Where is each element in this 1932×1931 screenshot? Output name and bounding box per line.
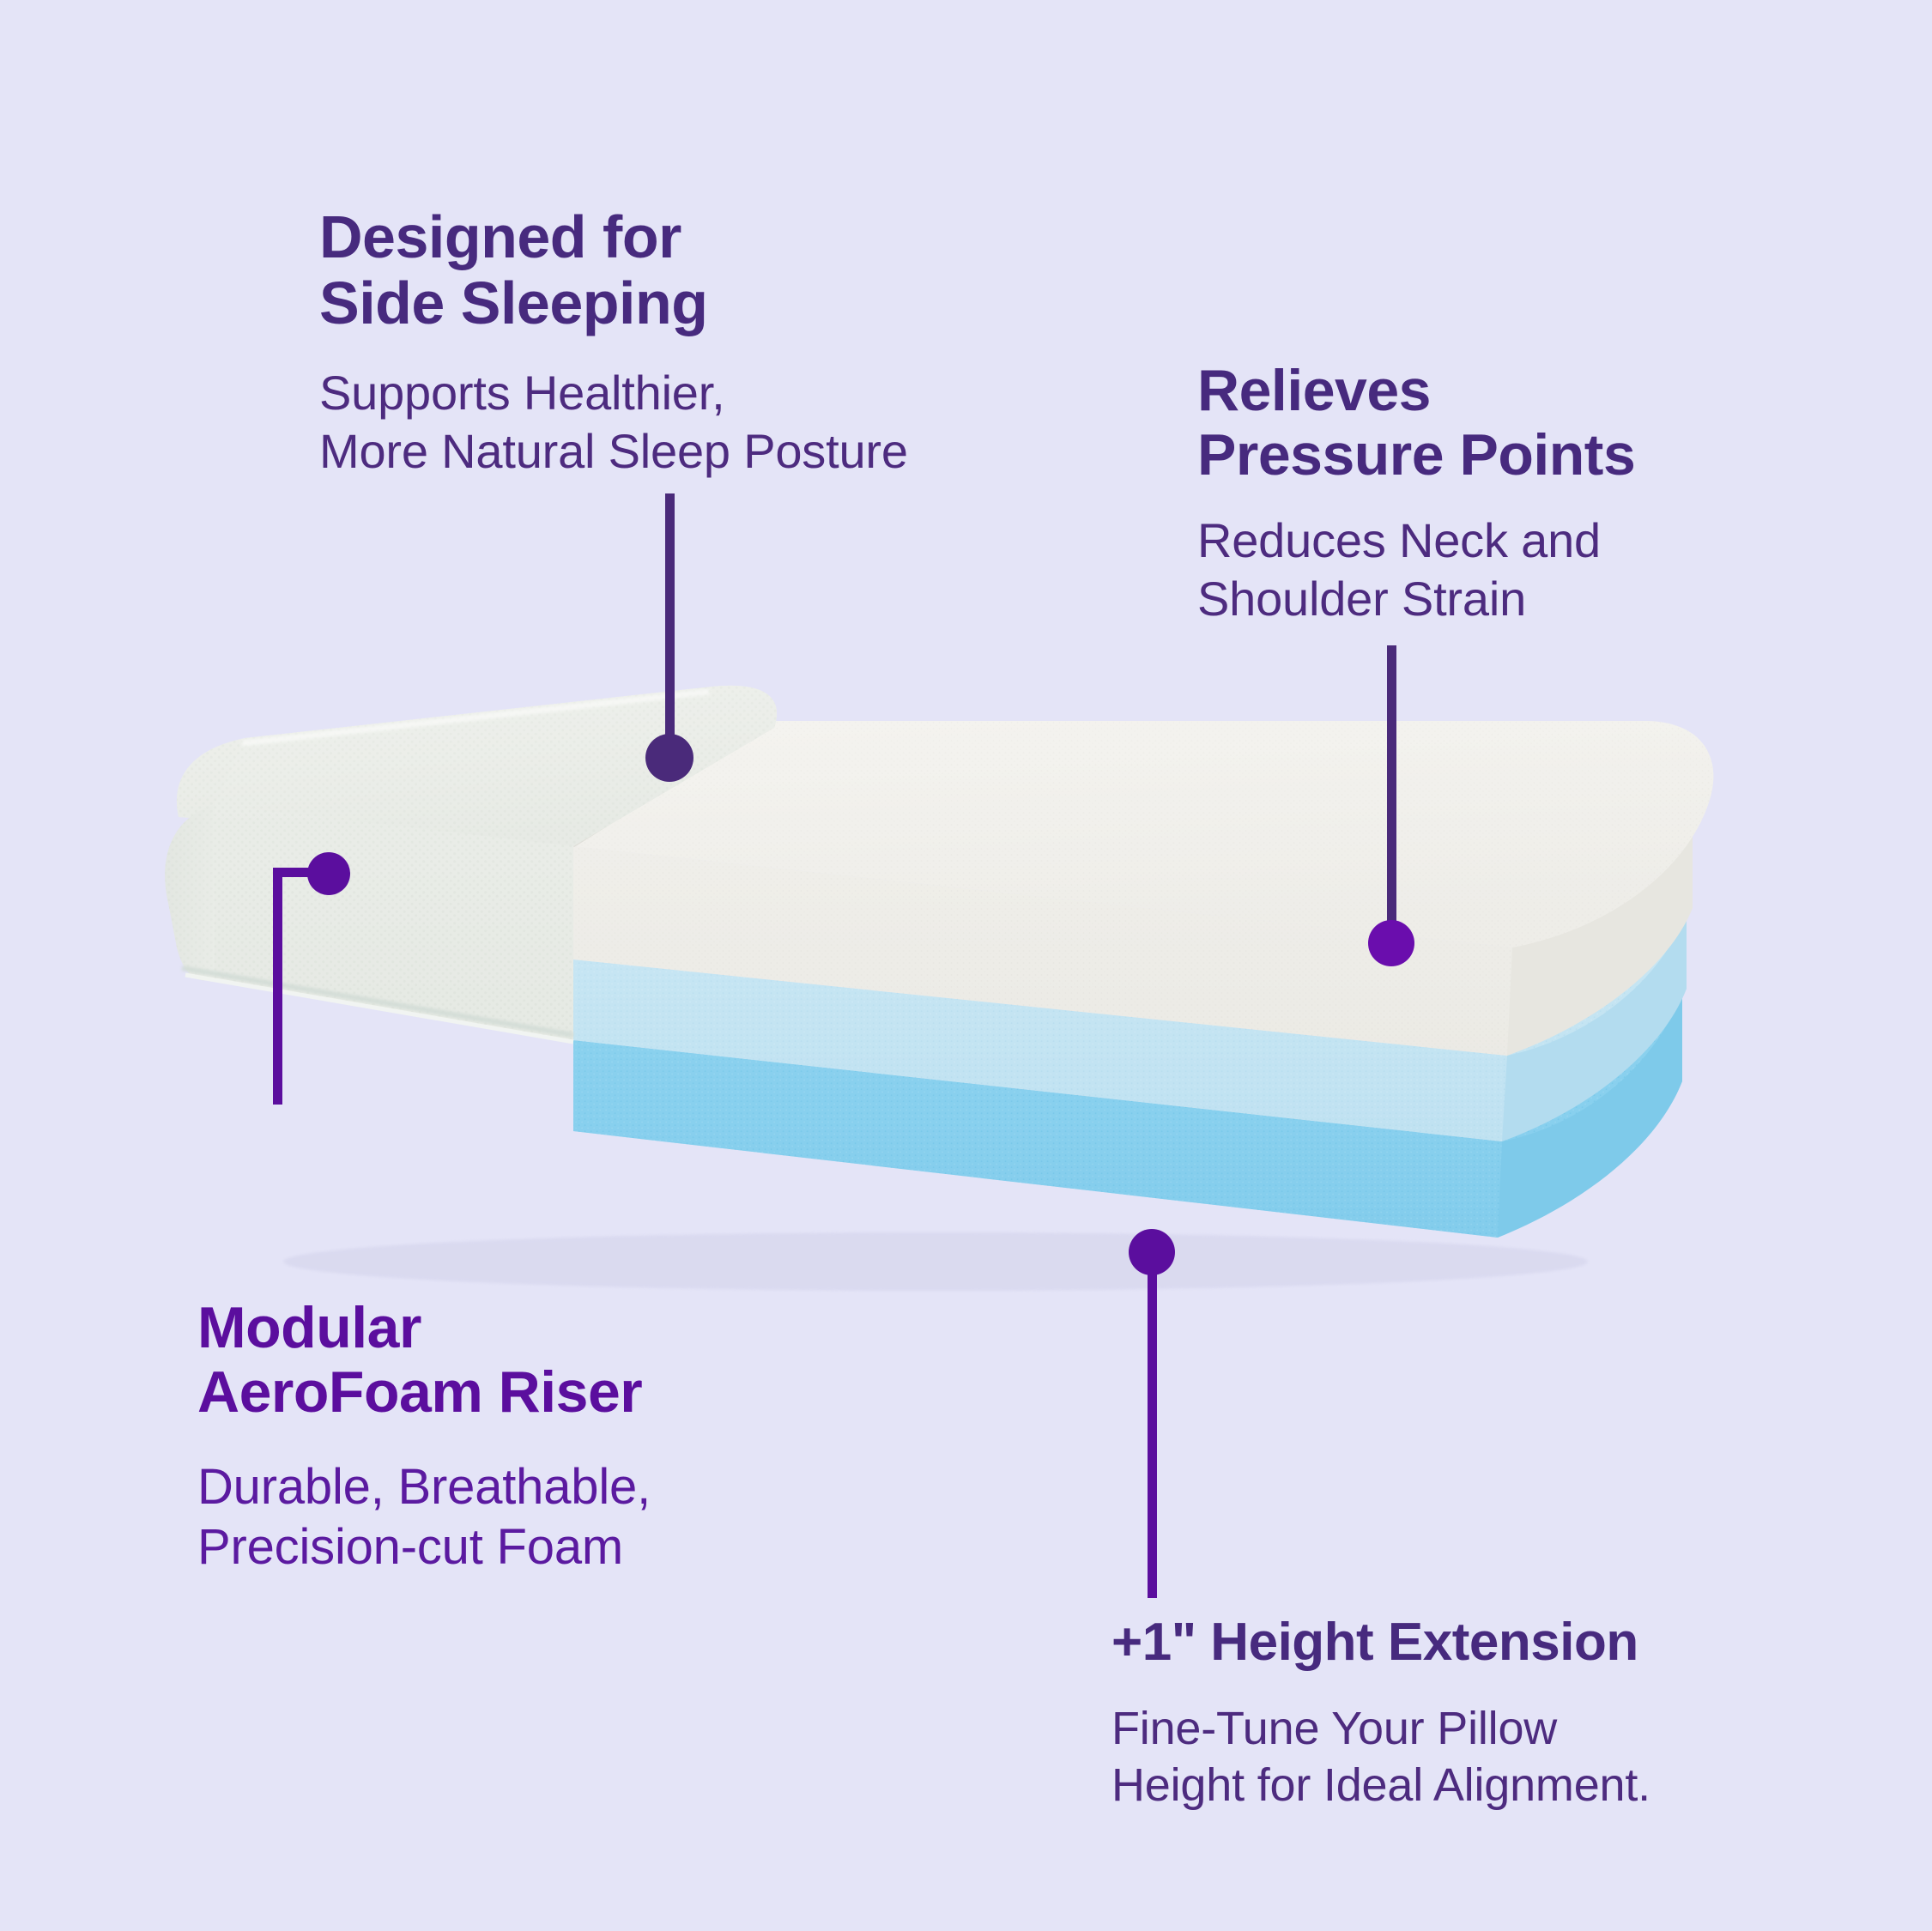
callout-dot-height-extension[interactable] [1129,1229,1175,1275]
callout-subtitle-side-sleeping: Supports Healthier, More Natural Sleep P… [319,364,1092,481]
callout-side-sleeping: Designed for Side Sleeping Supports Heal… [319,204,1092,481]
callout-height-extension: +1" Height Extension Fine-Tune Your Pill… [1111,1613,1832,1814]
leader-line-height-extension [1148,1262,1157,1598]
leader-line-pressure-points [1387,645,1396,942]
callout-subtitle-pressure-points: Reduces Neck and Shoulder Strain [1197,512,1815,629]
callout-title-pressure-points: Relieves Pressure Points [1197,359,1815,487]
callout-aerofoam-riser: Modular AeroFoam Riser Durable, Breathab… [197,1296,867,1578]
callout-title-side-sleeping: Designed for Side Sleeping [319,204,1092,336]
callout-pressure-points: Relieves Pressure Points Reduces Neck an… [1197,359,1815,628]
callout-title-aerofoam-riser: Modular AeroFoam Riser [197,1296,867,1425]
leader-line-side-sleeping [665,493,675,751]
callout-title-height-extension: +1" Height Extension [1111,1613,1832,1672]
callout-dot-pressure-points[interactable] [1368,920,1414,966]
callout-dot-aerofoam-riser[interactable] [307,852,350,895]
infographic-canvas: Designed for Side Sleeping Supports Heal… [0,0,1932,1931]
leader-line-riser-vertical [273,868,282,1105]
callout-subtitle-aerofoam-riser: Durable, Breathable, Precision-cut Foam [197,1457,867,1579]
callout-subtitle-height-extension: Fine-Tune Your Pillow Height for Ideal A… [1111,1701,1832,1814]
callout-dot-side-sleeping[interactable] [645,734,693,782]
